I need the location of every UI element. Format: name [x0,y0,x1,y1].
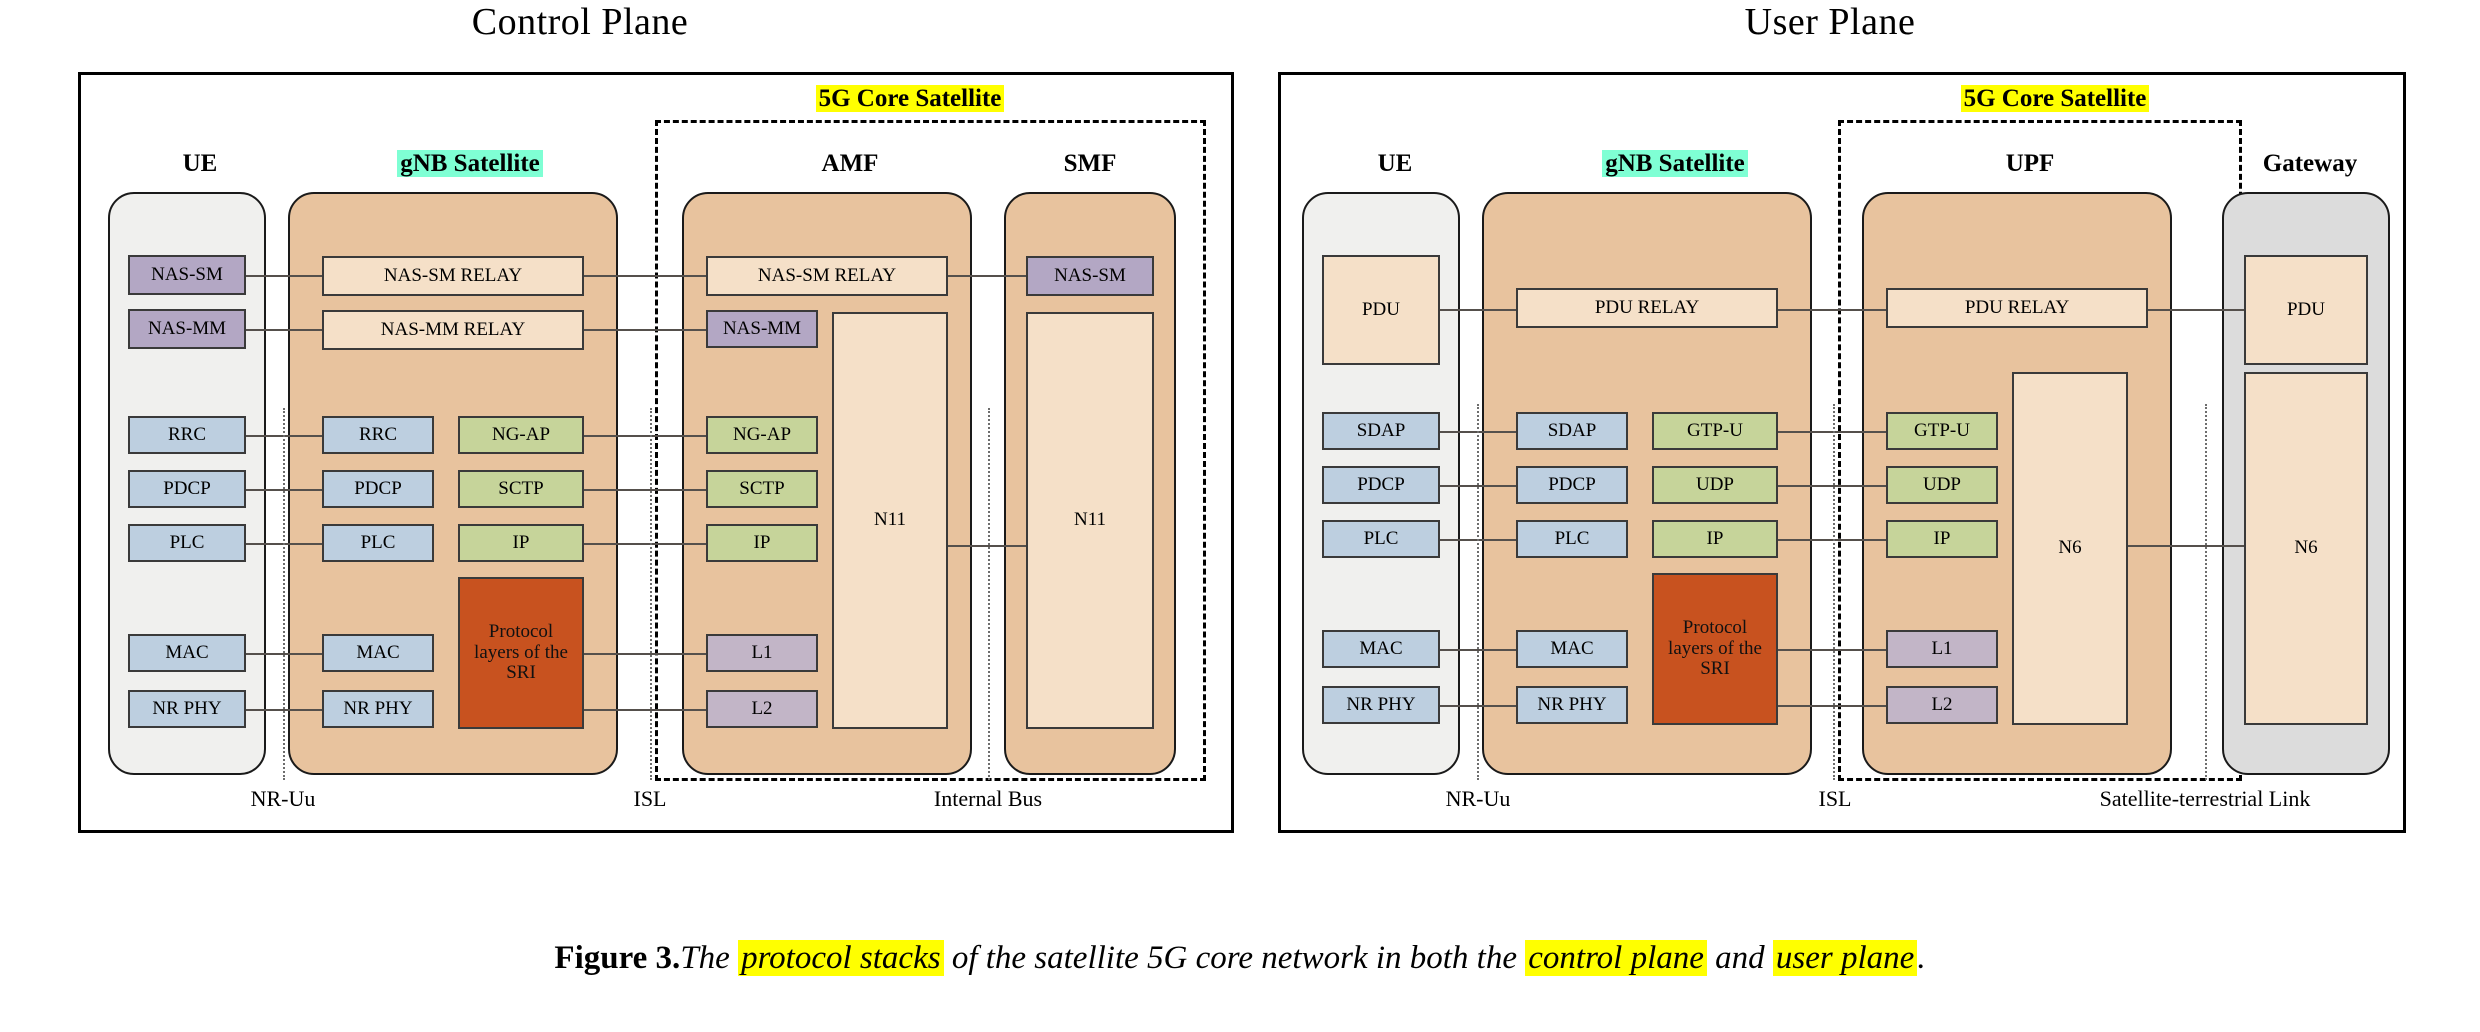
figure-root: Control Plane 5G Core Satellite UE gNB S… [0,0,2480,1032]
control-ue-layer-mac[interactable]: MAC [128,634,246,672]
user-gnb-layer-gtp-u[interactable]: GTP-U [1652,412,1778,450]
control-link-ip-gnb-amf [584,543,706,545]
control-node-amf-label: AMF [700,150,1000,178]
figure-caption: Figure 3.The protocol stacks of the sate… [0,940,2480,977]
user-link-ip-gnb-upf [1778,539,1886,541]
user-ue-layer-pdcp[interactable]: PDCP [1322,466,1440,504]
control-amf-layer-l1[interactable]: L1 [706,634,818,672]
control-amf-layer-ip[interactable]: IP [706,524,818,562]
user-upf-layer-l1[interactable]: L1 [1886,630,1998,668]
control-core-satellite-label: 5G Core Satellite [700,85,1120,113]
control-link-nas-mm-gnb-amf [584,329,706,331]
user-gnb-layer-udp[interactable]: UDP [1652,466,1778,504]
user-upf-layer-l2[interactable]: L2 [1886,686,1998,724]
user-upf-bus-n6[interactable]: N6 [2012,372,2128,725]
control-gnb-highlight: gNB Satellite [397,150,543,177]
control-nr-uu-dotted-line [283,408,285,780]
control-ue-layer-rrc[interactable]: RRC [128,416,246,454]
caption-highlight-protocol-stacks: protocol stacks [738,940,944,976]
control-iface-nr-uu: NR-Uu [203,786,363,812]
control-gnb-layer-ip[interactable]: IP [458,524,584,562]
control-gnb-layer-rrc[interactable]: RRC [322,416,434,454]
control-link-nas-sm-gnb-amf [584,275,706,277]
control-link-sctp-gnb-amf [584,489,706,491]
user-ue-pdu[interactable]: PDU [1322,255,1440,365]
user-iface-nr-uu: NR-Uu [1398,786,1558,812]
user-gateway-pdu[interactable]: PDU [2244,255,2368,365]
control-node-smf-label: SMF [1000,150,1180,178]
user-link-n6-upf-gateway [2128,545,2244,547]
caption-highlight-control-plane: control plane [1525,940,1707,976]
user-node-gateway-label: Gateway [2210,150,2410,178]
control-amf-layer-sctp[interactable]: SCTP [706,470,818,508]
caption-highlight-user-plane: user plane [1773,940,1917,976]
control-iface-internal-bus: Internal Bus [868,786,1108,812]
control-gnb-layer-ng-ap[interactable]: NG-AP [458,416,584,454]
control-link-sri-l1 [584,653,706,655]
control-amf-layer-l2[interactable]: L2 [706,690,818,728]
control-smf-layer-nas-sm[interactable]: NAS-SM [1026,256,1154,296]
caption-part3: and [1707,940,1773,976]
control-link-nas-sm-ue-gnb [246,275,322,277]
control-gnb-sri-block[interactable]: Protocol layers of the SRI [458,577,584,729]
user-gnb-highlight: gNB Satellite [1602,150,1748,177]
control-link-amf-smf-nas-sm [948,275,1026,277]
user-gnb-layer-plc[interactable]: PLC [1516,520,1628,558]
control-link-sri-l2 [584,709,706,711]
user-link-pdu-gnb-upf [1778,309,1886,311]
control-node-gnb-label: gNB Satellite [290,150,650,178]
user-gnb-sri-block[interactable]: Protocol layers of the SRI [1652,573,1778,725]
user-core-satellite-highlight: 5G Core Satellite [1961,85,2150,112]
user-ue-layer-nr-phy[interactable]: NR PHY [1322,686,1440,724]
control-smf-bus-n11[interactable]: N11 [1026,312,1154,729]
user-upf-layer-udp[interactable]: UDP [1886,466,1998,504]
user-link-pdu-ue-gnb [1440,309,1516,311]
control-internal-bus-dotted-line [988,408,990,780]
user-core-satellite-label: 5G Core Satellite [1845,85,2265,113]
control-gnb-layer-pdcp[interactable]: PDCP [322,470,434,508]
caption-part1: The [680,940,738,976]
user-node-gnb-label: gNB Satellite [1495,150,1855,178]
user-ue-layer-sdap[interactable]: SDAP [1322,412,1440,450]
control-plane-title: Control Plane [330,0,830,44]
control-ue-layer-nas-mm[interactable]: NAS-MM [128,309,246,349]
user-gnb-layer-nr-phy[interactable]: NR PHY [1516,686,1628,724]
user-upf-layer-gtp-u[interactable]: GTP-U [1886,412,1998,450]
control-amf-layer-ng-ap[interactable]: NG-AP [706,416,818,454]
user-iface-isl: ISL [1785,786,1885,812]
control-node-ue-label: UE [110,150,290,178]
user-gnb-layer-pdcp[interactable]: PDCP [1516,466,1628,504]
user-gateway-bus-n6[interactable]: N6 [2244,372,2368,725]
control-gnb-relay-nas-sm[interactable]: NAS-SM RELAY [322,256,584,296]
control-link-ngap-gnb-amf [584,435,706,437]
control-gnb-layer-plc[interactable]: PLC [322,524,434,562]
user-ue-layer-mac[interactable]: MAC [1322,630,1440,668]
control-ue-layer-nr-phy[interactable]: NR PHY [128,690,246,728]
control-amf-layer-nas-mm[interactable]: NAS-MM [706,310,818,348]
user-gnb-layer-ip[interactable]: IP [1652,520,1778,558]
control-ue-layer-pdcp[interactable]: PDCP [128,470,246,508]
control-amf-relay-nas-sm[interactable]: NAS-SM RELAY [706,256,948,296]
control-gnb-layer-sctp[interactable]: SCTP [458,470,584,508]
user-plane-title: User Plane [1580,0,2080,44]
caption-figure-number: Figure 3. [554,940,680,976]
user-gnb-relay-pdu[interactable]: PDU RELAY [1516,288,1778,328]
user-nr-uu-dotted-line [1477,404,1479,780]
user-link-sri-l1 [1778,649,1886,651]
user-link-pdu-upf-gateway [2148,309,2244,311]
user-node-upf-label: UPF [1880,150,2180,178]
control-gnb-layer-nr-phy[interactable]: NR PHY [322,690,434,728]
control-amf-bus-n11[interactable]: N11 [832,312,948,729]
user-link-udp-gnb-upf [1778,485,1886,487]
caption-part2: of the satellite 5G core network in both… [944,940,1526,976]
user-isl-dotted-line [1833,404,1835,780]
user-node-ue-label: UE [1305,150,1485,178]
user-gnb-layer-sdap[interactable]: SDAP [1516,412,1628,450]
user-link-gtpu-gnb-upf [1778,431,1886,433]
user-gnb-layer-mac[interactable]: MAC [1516,630,1628,668]
control-link-nas-mm-ue-gnb [246,329,322,331]
user-iface-satellite-terrestrial-link: Satellite-terrestrial Link [2020,786,2390,812]
control-isl-dotted-line [650,408,652,780]
user-upf-relay-pdu[interactable]: PDU RELAY [1886,288,2148,328]
user-ue-layer-plc[interactable]: PLC [1322,520,1440,558]
control-gnb-layer-mac[interactable]: MAC [322,634,434,672]
caption-part4: . [1917,940,1925,976]
control-link-amf-smf-n11 [948,545,1026,547]
user-satellite-terrestrial-dotted-line [2205,404,2207,780]
control-ue-layer-nas-sm[interactable]: NAS-SM [128,255,246,295]
control-iface-isl: ISL [600,786,700,812]
control-ue-layer-plc[interactable]: PLC [128,524,246,562]
control-core-satellite-highlight: 5G Core Satellite [816,85,1005,112]
control-gnb-relay-nas-mm[interactable]: NAS-MM RELAY [322,310,584,350]
user-link-sri-l2 [1778,705,1886,707]
user-upf-layer-ip[interactable]: IP [1886,520,1998,558]
